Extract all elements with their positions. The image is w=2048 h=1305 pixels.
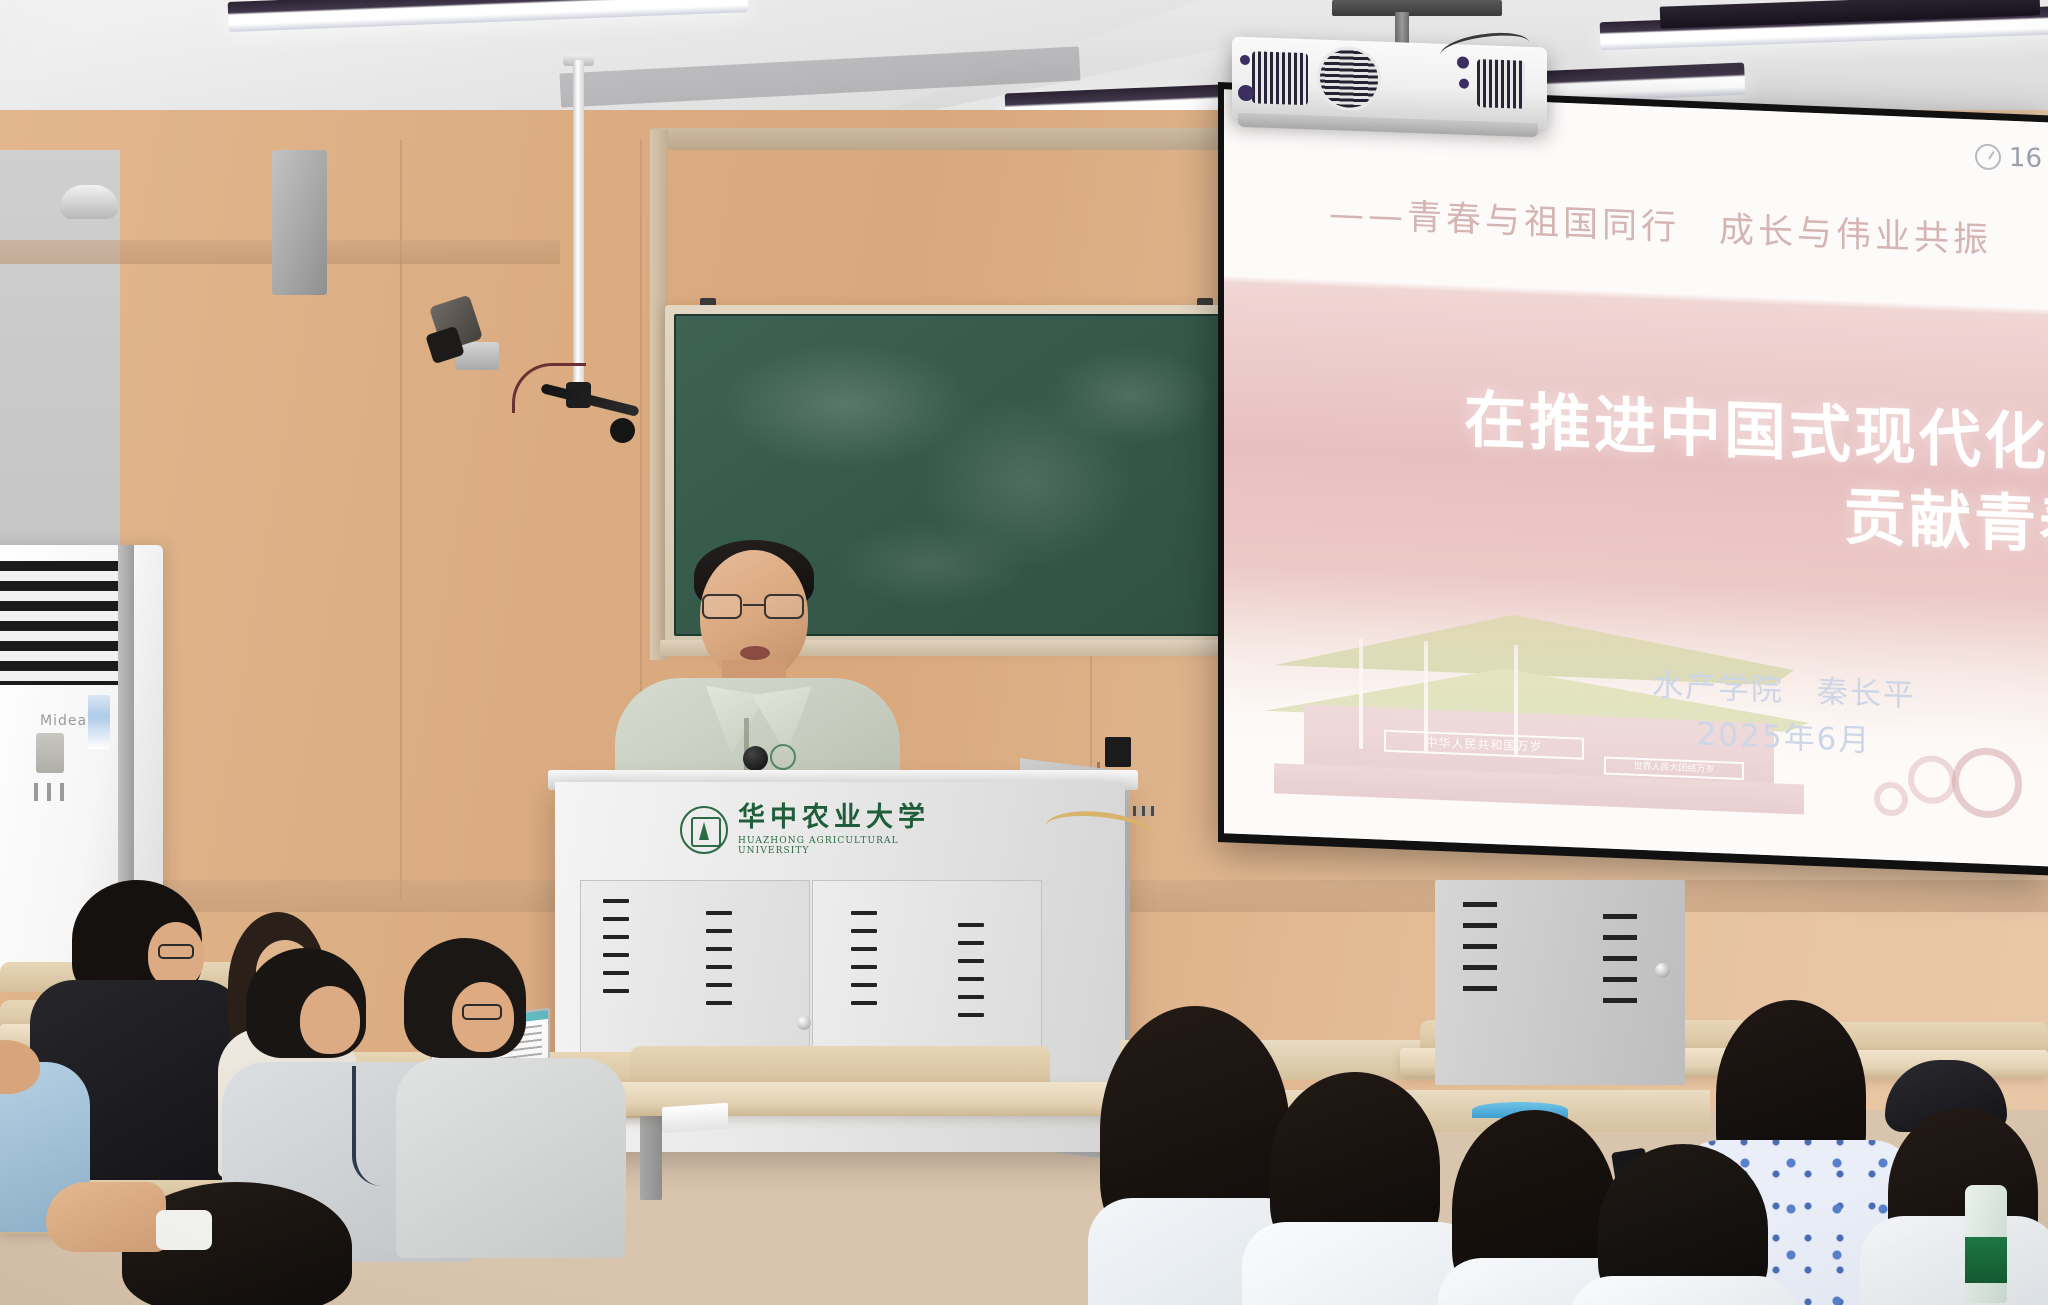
clock-icon bbox=[1975, 143, 2001, 170]
slide-title: 在推进中国式现代化 贡献青春力量 bbox=[1464, 379, 2048, 574]
dome-camera-icon bbox=[60, 185, 118, 219]
ac-brand-label: Midea bbox=[40, 713, 87, 729]
speaker-glasses bbox=[702, 594, 806, 620]
ac-display-panel bbox=[36, 733, 64, 773]
podium-university-name-cn: 华中农业大学 bbox=[738, 802, 930, 833]
podium-door-knob[interactable] bbox=[797, 1016, 811, 1030]
cabinet-vent-left bbox=[1463, 902, 1497, 991]
badge-count: 16 bbox=[2009, 143, 2042, 174]
desk-back-row1 bbox=[630, 1046, 1050, 1086]
projector-lens bbox=[1477, 59, 1525, 109]
tissue-object bbox=[156, 1210, 212, 1250]
projection-screen: 中华人民共和国万岁 世界人民大团结万岁 ——青春与祖国同行 成长与伟业共振 在推… bbox=[1218, 82, 2048, 875]
chalkboard-top-cover bbox=[650, 128, 1260, 150]
wall-speaker-icon bbox=[272, 150, 327, 295]
student-hand bbox=[46, 1182, 166, 1252]
water-bottle-icon bbox=[1965, 1185, 2007, 1303]
speaker-shirt-logo-icon bbox=[770, 744, 796, 770]
ac-control-buttons[interactable] bbox=[34, 783, 72, 801]
projector-mount-plate bbox=[1332, 0, 1502, 16]
microphone-capsule bbox=[610, 418, 635, 443]
slide-title-line2: 贡献青春力量 bbox=[1464, 461, 2048, 574]
projector-mount-arm bbox=[1395, 12, 1409, 46]
equipment-cabinet[interactable] bbox=[1435, 880, 1685, 1085]
student-glasses-icon bbox=[158, 944, 194, 959]
slide-subtitle: ——青春与祖国同行 成长与伟业共振 bbox=[1329, 185, 1992, 263]
desk-leg-row2 bbox=[640, 1110, 662, 1200]
student-front-right-body bbox=[1570, 1276, 1800, 1305]
slide-presenter-block: 水产学院 秦长平 2025年6月 bbox=[1652, 662, 1916, 766]
projector-vent-left bbox=[1252, 51, 1308, 105]
student-grey-tee-head bbox=[300, 986, 360, 1054]
stage-microphone-head bbox=[743, 746, 768, 771]
student-laptop-user-body bbox=[396, 1058, 626, 1258]
podium-vent-left-b bbox=[706, 911, 732, 1005]
projector-indicator-1 bbox=[1240, 55, 1250, 65]
student-laptop-user-glasses-icon bbox=[462, 1004, 502, 1020]
microphone-pole bbox=[573, 60, 584, 390]
ac-louvers bbox=[0, 561, 121, 685]
podium-university-name-en: HUAZHONG AGRICULTURAL UNIVERSITY bbox=[738, 836, 940, 856]
speaker-mouth bbox=[740, 646, 770, 660]
projector-fan bbox=[1317, 45, 1381, 111]
cabinet-knob[interactable] bbox=[1655, 963, 1670, 978]
projector-indicator-4 bbox=[1459, 78, 1469, 88]
podium-vent-right-b bbox=[958, 923, 984, 1017]
lecture-hall-photo: 中华人民共和国万岁 世界人民大团结万岁 ——青春与祖国同行 成长与伟业共振 在推… bbox=[0, 0, 2048, 1305]
cabinet-vent-right bbox=[1603, 914, 1637, 1003]
university-seal-icon bbox=[680, 806, 728, 854]
water-bottle-label bbox=[1965, 1237, 2007, 1283]
podium-vent-right-a bbox=[851, 911, 877, 1005]
cloud-motif-3 bbox=[1874, 781, 1908, 816]
cloud-motif-1 bbox=[1952, 746, 2022, 819]
notebook-icon bbox=[662, 1103, 728, 1134]
student-far-right-body bbox=[1860, 1216, 2048, 1305]
podium-vent-left-a bbox=[603, 899, 629, 993]
dome-camera-arm bbox=[4, 172, 66, 182]
wall-outlet bbox=[1133, 806, 1155, 816]
presentation-slide: 中华人民共和国万岁 世界人民大团结万岁 ——青春与祖国同行 成长与伟业共振 在推… bbox=[1224, 89, 2048, 866]
podium-branding: 华中农业大学 HUAZHONG AGRICULTURAL UNIVERSITY bbox=[680, 802, 940, 858]
projection-screen-surface: 中华人民共和国万岁 世界人民大团结万岁 ——青春与祖国同行 成长与伟业共振 在推… bbox=[1224, 89, 2048, 866]
ac-energy-label bbox=[88, 695, 110, 749]
projector-indicator-2 bbox=[1238, 85, 1254, 102]
slide-badge: 16 bbox=[1975, 141, 2042, 174]
